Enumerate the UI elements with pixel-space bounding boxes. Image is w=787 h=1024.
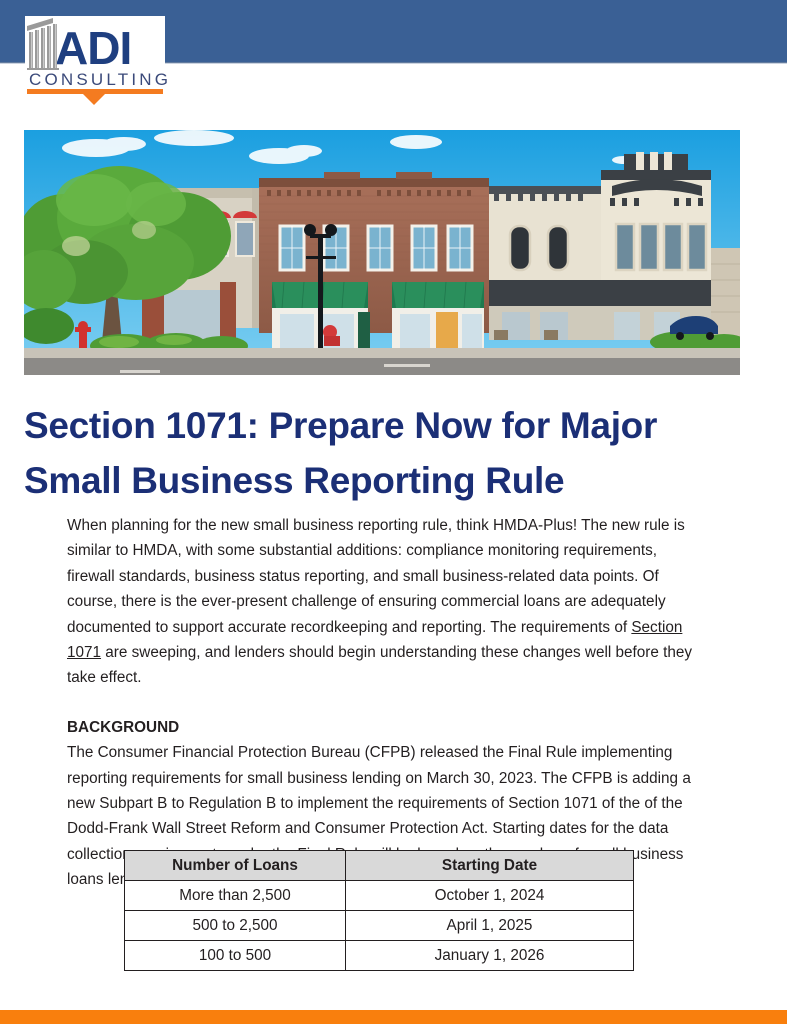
- cell-loans: 100 to 500: [125, 941, 346, 971]
- table-row: 100 to 500 January 1, 2026: [125, 941, 634, 971]
- column-header-starting-date: Starting Date: [346, 851, 634, 881]
- article-body: When planning for the new small business…: [67, 513, 704, 893]
- footer-accent-bar: [0, 1010, 787, 1024]
- intro-text-part2: are sweeping, and lenders should begin u…: [67, 644, 692, 686]
- cell-loans: 500 to 2,500: [125, 911, 346, 941]
- intro-paragraph: When planning for the new small business…: [67, 513, 704, 691]
- page-title-line2: Small Business Reporting Rule: [24, 460, 564, 501]
- table-row: 500 to 2,500 April 1, 2025: [125, 911, 634, 941]
- intro-text-part1: When planning for the new small business…: [67, 517, 685, 636]
- column-header-number-of-loans: Number of Loans: [125, 851, 346, 881]
- background-heading: BACKGROUND: [67, 719, 179, 736]
- document-page: ADI CONSULTING: [0, 0, 787, 1024]
- page-title-line1: Section 1071: Prepare Now for Major: [24, 405, 657, 446]
- table-header-row: Number of Loans Starting Date: [125, 851, 634, 881]
- logo-wordmark: ADI: [55, 25, 131, 71]
- logo-mark-row: ADI: [25, 16, 165, 72]
- logo-arrow-icon: [83, 94, 105, 105]
- page-title: Section 1071: Prepare Now for Major Smal…: [24, 398, 724, 508]
- starting-dates-table-wrapper: Number of Loans Starting Date More than …: [124, 850, 633, 971]
- starting-dates-table: Number of Loans Starting Date More than …: [124, 850, 634, 971]
- brand-logo[interactable]: ADI CONSULTING: [25, 16, 165, 98]
- hero-image: [24, 130, 740, 375]
- cell-date: April 1, 2025: [346, 911, 634, 941]
- cell-date: January 1, 2026: [346, 941, 634, 971]
- table-row: More than 2,500 October 1, 2024: [125, 881, 634, 911]
- cell-loans: More than 2,500: [125, 881, 346, 911]
- cell-date: October 1, 2024: [346, 881, 634, 911]
- columns-icon: [27, 18, 61, 70]
